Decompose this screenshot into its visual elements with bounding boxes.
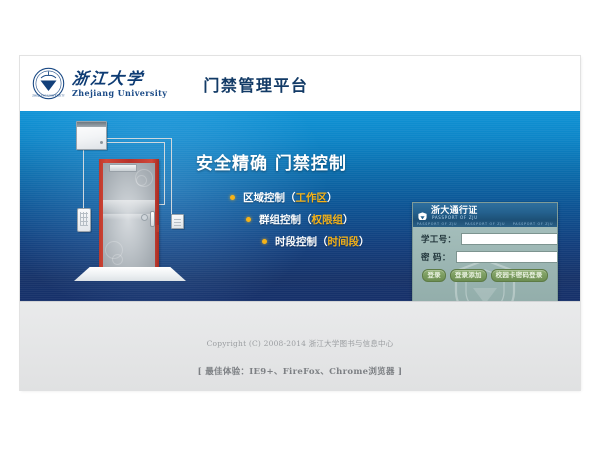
- feature-list: 区域控制（工作区） 群组控制（权限组） 时段控制（时间段）: [196, 190, 406, 249]
- access-controller-box-icon: [76, 121, 107, 150]
- campus-card-login-button[interactable]: 校园卡密码登录: [491, 269, 548, 282]
- door-closer-arm-icon: [109, 164, 137, 172]
- shield-icon: [418, 207, 427, 217]
- svg-text:ZHEJIANG UNIVERSITY: ZHEJIANG UNIVERSITY: [32, 93, 65, 97]
- university-name-cn: 浙江大学: [71, 71, 168, 87]
- feature-text-tail: ）: [327, 190, 338, 205]
- copyright-text: Copyright (C) 2008-2014 浙江大学图书与信息中心: [207, 338, 394, 349]
- card-reader-slots: [174, 217, 181, 226]
- university-logo[interactable]: ZHEJIANG UNIVERSITY 浙江大学 Zhejiang Univer…: [32, 67, 167, 100]
- page-root: ZHEJIANG UNIVERSITY 浙江大学 Zhejiang Univer…: [0, 0, 600, 450]
- userid-row: 学工号：: [421, 233, 549, 245]
- login-panel-header: 浙大通行证 PASSPORT OF ZJU: [413, 203, 557, 220]
- content-card: ZHEJIANG UNIVERSITY 浙江大学 Zhejiang Univer…: [20, 56, 580, 390]
- door-decoration: [112, 254, 123, 265]
- security-door-icon: [99, 159, 159, 271]
- feature-text: 时段控制（: [275, 234, 328, 249]
- feature-accent: 权限组: [312, 212, 344, 227]
- card-reader-icon: [171, 214, 184, 229]
- access-control-illustration: [58, 117, 208, 297]
- keypad-keys: [80, 212, 88, 226]
- banner-copy: 安全精确 门禁控制 区域控制（工作区） 群组控制（权限组） 时段控制（时间段）: [196, 149, 406, 256]
- bullet-dot-icon: [262, 239, 267, 244]
- feature-text: 区域控制（: [243, 190, 296, 205]
- page-title: 门禁管理平台: [203, 72, 308, 96]
- feature-item-area-control: 区域控制（工作区）: [230, 190, 406, 205]
- hero-banner: 安全精确 门禁控制 区域控制（工作区） 群组控制（权限组） 时段控制（时间段）: [20, 111, 580, 301]
- login-panel: 浙大通行证 PASSPORT OF ZJU PASSPORT OF ZJU PA…: [412, 202, 558, 301]
- zju-seal-icon: ZHEJIANG UNIVERSITY: [32, 67, 65, 100]
- ribbon-text: PASSPORT OF ZJU: [465, 222, 505, 226]
- keypad-reader-icon: [77, 208, 91, 232]
- feature-item-group-control: 群组控制（权限组）: [246, 212, 406, 227]
- feature-text: 群组控制（: [259, 212, 312, 227]
- cable-controller-to-keypad: [83, 148, 84, 208]
- ribbon-text: PASSPORT OF ZJU: [417, 222, 457, 226]
- door-knob-icon: [141, 214, 148, 221]
- cable-controller-to-lock-top: [104, 142, 165, 143]
- feature-accent: 时间段: [328, 234, 360, 249]
- feature-text-tail: ）: [343, 212, 354, 227]
- bullet-dot-icon: [230, 195, 235, 200]
- site-footer: Copyright (C) 2008-2014 浙江大学图书与信息中心 [ 最佳…: [20, 301, 580, 391]
- login-panel-ribbon: PASSPORT OF ZJU PASSPORT OF ZJU PASSPORT…: [413, 220, 557, 227]
- door-highlight-upper: [103, 200, 155, 212]
- login-button-row: 登录 登录添加 校园卡密码登录: [421, 269, 549, 282]
- feature-item-time-control: 时段控制（时间段）: [262, 234, 406, 249]
- cable-reader-vertical: [171, 138, 172, 214]
- userid-field[interactable]: [461, 233, 558, 245]
- cable-lock-vertical: [164, 142, 165, 204]
- login-add-button[interactable]: 登录添加: [450, 269, 487, 282]
- university-wordmark: 浙江大学 Zhejiang University: [72, 71, 167, 97]
- floor-plinth: [74, 267, 186, 281]
- door-latch-icon: [155, 225, 159, 232]
- cable-controller-to-reader-top: [104, 138, 172, 139]
- bullet-dot-icon: [246, 217, 251, 222]
- banner-slogan: 安全精确 门禁控制: [196, 149, 406, 174]
- userid-label: 学工号：: [421, 233, 456, 245]
- password-row: 密 码：: [421, 251, 549, 263]
- browser-note-text: [ 最佳体验：IE9+、FireFox、Chrome浏览器 ]: [198, 365, 403, 377]
- university-name-en: Zhejiang University: [72, 89, 167, 97]
- password-field[interactable]: [456, 251, 558, 263]
- ribbon-text: PASSPORT OF ZJU: [513, 222, 553, 226]
- site-header: ZHEJIANG UNIVERSITY 浙江大学 Zhejiang Univer…: [20, 56, 580, 111]
- login-form: 学工号： 密 码： 登录 登录添加 校园卡密码登录: [413, 227, 557, 282]
- feature-text-tail: ）: [359, 234, 370, 249]
- door-decoration: [136, 175, 147, 186]
- feature-accent: 工作区: [296, 190, 328, 205]
- password-label: 密 码：: [421, 251, 451, 263]
- login-button[interactable]: 登录: [422, 269, 445, 282]
